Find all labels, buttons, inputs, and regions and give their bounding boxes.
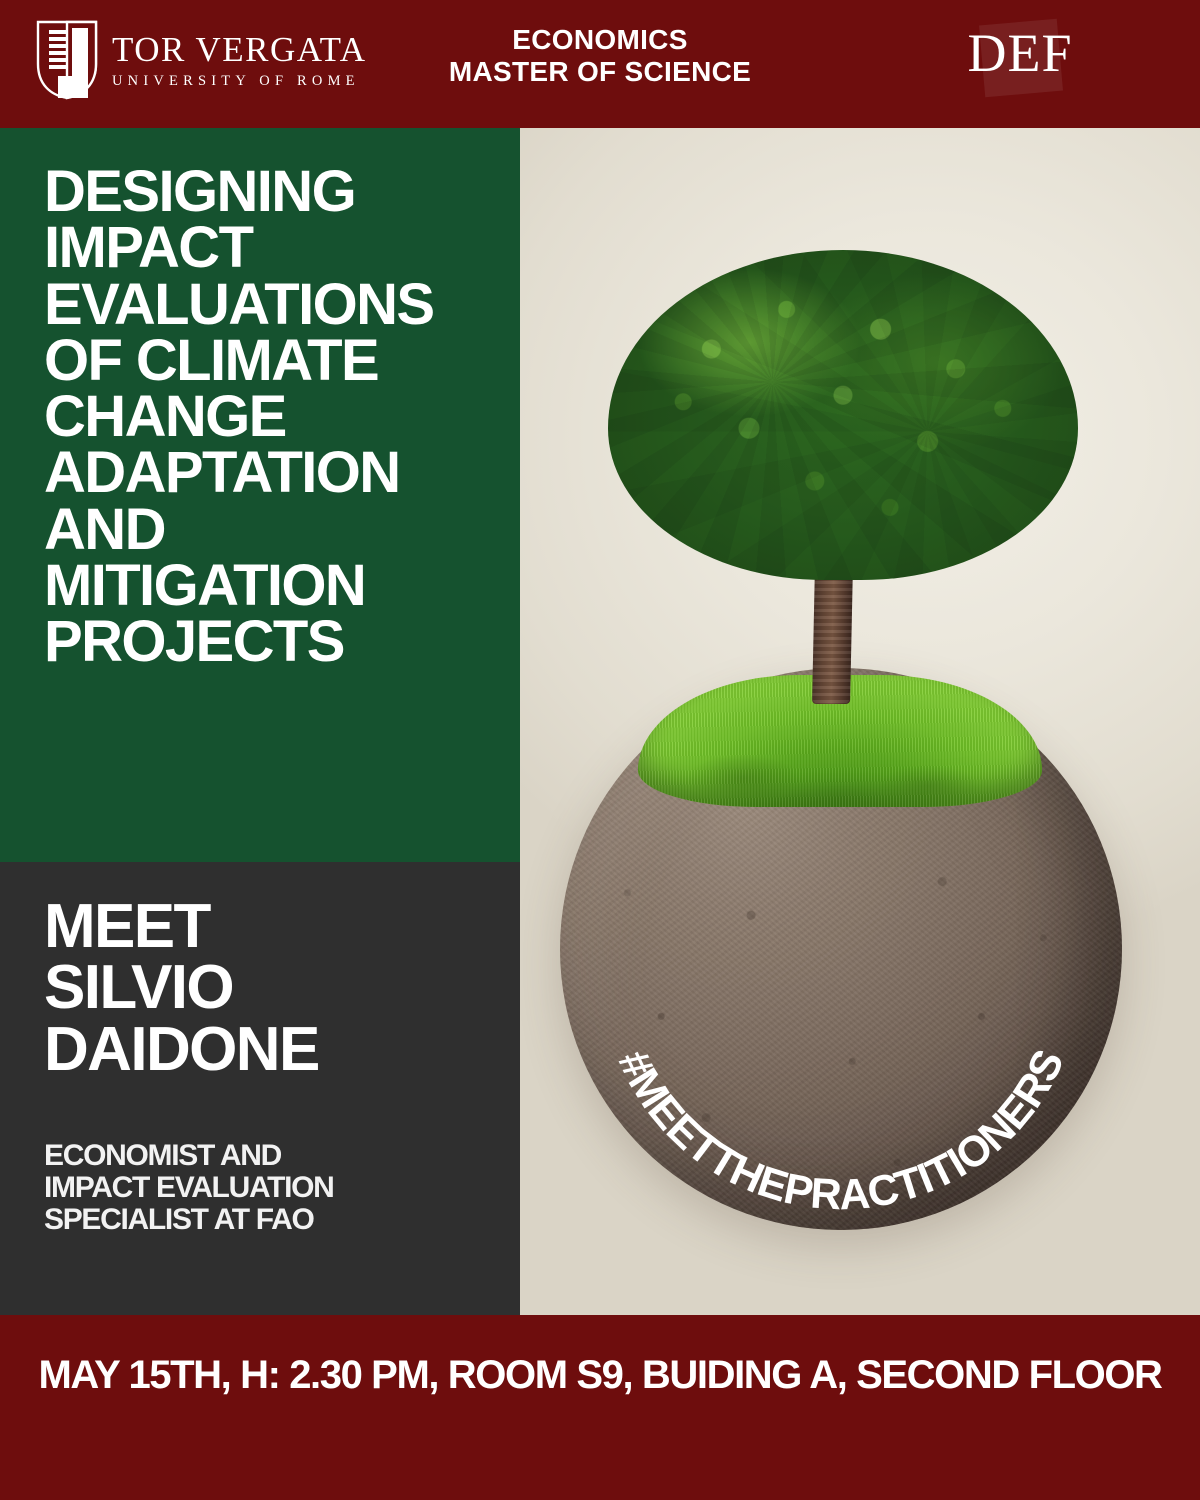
hashtag-text: #MEETTHEPRACTITIONERS <box>609 1043 1074 1220</box>
title-line: PROJECTS <box>44 614 514 670</box>
department-logo: DEF <box>940 16 1100 96</box>
title-line: CHANGE <box>44 389 514 445</box>
poster-footer: MAY 15TH, H: 2.30 PM, ROOM S9, BUIDING A… <box>0 1315 1200 1500</box>
speaker-role-line: IMPACT EVALUATION <box>44 1172 504 1204</box>
speaker-last-name: DAIDONE <box>44 1019 514 1080</box>
tree-illustration <box>608 250 1078 700</box>
title-line: MITIGATION <box>44 558 514 614</box>
speaker-intro: MEET <box>44 896 514 957</box>
speaker-role-line: SPECIALIST AT FAO <box>44 1204 504 1236</box>
title-panel: DESIGNING IMPACT EVALUATIONS OF CLIMATE … <box>0 128 520 862</box>
event-poster: TOR VERGATA UNIVERSITY OF ROME ECONOMICS… <box>0 0 1200 1500</box>
speaker-first-name: SILVIO <box>44 957 514 1018</box>
speaker-heading: MEET SILVIO DAIDONE <box>44 896 514 1080</box>
tree-globe-image: #MEETTHEPRACTITIONERS <box>520 128 1200 1315</box>
title-line: AND <box>44 502 514 558</box>
title-line: ADAPTATION <box>44 445 514 501</box>
title-line: EVALUATIONS <box>44 277 514 333</box>
speaker-role-line: ECONOMIST AND <box>44 1140 504 1172</box>
title-line: OF CLIMATE <box>44 333 514 389</box>
hashtag-textpath: #MEETTHEPRACTITIONERS <box>609 1043 1074 1220</box>
title-line: IMPACT <box>44 220 514 276</box>
speaker-role: ECONOMIST AND IMPACT EVALUATION SPECIALI… <box>44 1140 504 1236</box>
poster-header: TOR VERGATA UNIVERSITY OF ROME ECONOMICS… <box>0 0 1200 128</box>
event-title: DESIGNING IMPACT EVALUATIONS OF CLIMATE … <box>44 164 514 670</box>
title-line: DESIGNING <box>44 164 514 220</box>
hashtag-curved-text: #MEETTHEPRACTITIONERS <box>560 668 1122 1230</box>
department-acronym: DEF <box>940 22 1100 84</box>
tree-canopy <box>608 250 1078 580</box>
speaker-panel: MEET SILVIO DAIDONE ECONOMIST AND IMPACT… <box>0 862 520 1315</box>
event-details: MAY 15TH, H: 2.30 PM, ROOM S9, BUIDING A… <box>0 1353 1200 1398</box>
